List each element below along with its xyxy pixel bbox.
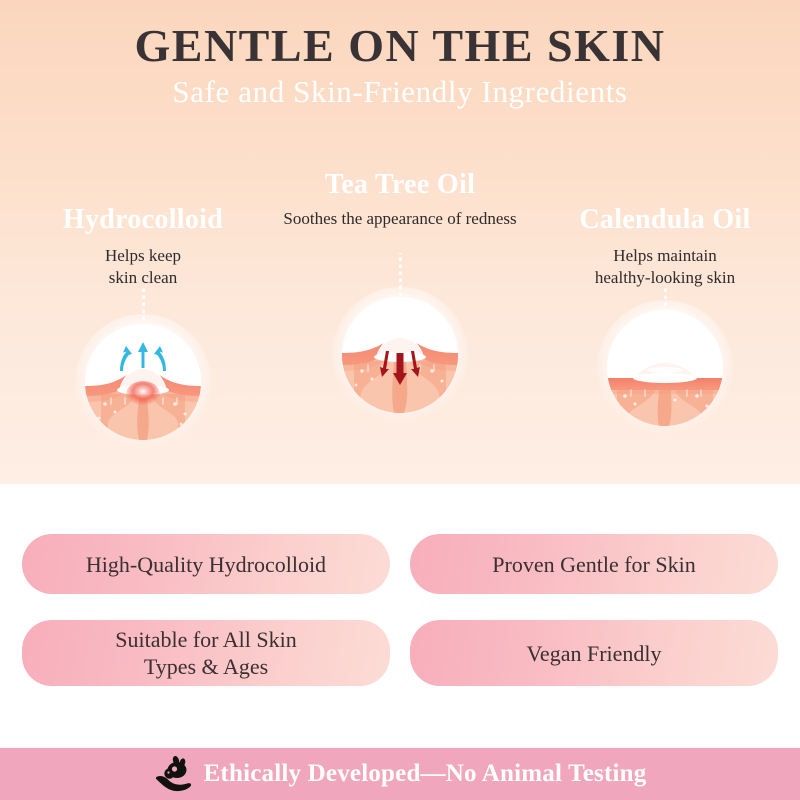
- ingredient-tea-tree-oil: Tea Tree Oil Soothes the appearance of r…: [255, 168, 545, 230]
- feature-pill-label: Types & Ages: [144, 653, 268, 680]
- feature-pill-label: High-Quality Hydrocolloid: [86, 551, 326, 578]
- feature-pill-proven-gentle-for-skin[interactable]: Proven Gentle for Skin: [410, 534, 778, 594]
- feature-pill-high-quality-hydrocolloid[interactable]: High-Quality Hydrocolloid: [22, 534, 390, 594]
- ingredient-desc-line: skin clean: [18, 267, 268, 289]
- ingredient-icon-calendula-oil: [607, 310, 723, 426]
- ingredient-icon-hydrocolloid: [85, 324, 201, 440]
- cruelty-free-rabbit-in-hand-icon: [154, 754, 196, 794]
- page-title: GENTLE ON THE SKIN: [0, 18, 800, 74]
- ingredient-calendula-oil: Calendula Oil Helps maintain healthy-loo…: [540, 203, 790, 289]
- footer-bar: Ethically Developed—No Animal Testing: [0, 748, 800, 800]
- skin-cross-section-healthy-icon: [607, 310, 723, 426]
- ingredient-desc-line: Helps keep: [18, 245, 268, 267]
- feature-pill-label: Vegan Friendly: [526, 640, 661, 667]
- ingredient-desc-line: healthy-looking skin: [540, 267, 790, 289]
- page-subtitle: Safe and Skin-Friendly Ingredients: [0, 72, 800, 112]
- ingredient-hydrocolloid: Hydrocolloid Helps keep skin clean: [18, 203, 268, 289]
- ingredient-desc-line: Helps maintain: [540, 245, 790, 267]
- ingredient-name: Calendula Oil: [540, 203, 790, 237]
- ingredient-name: Hydrocolloid: [18, 203, 268, 237]
- ingredient-name: Tea Tree Oil: [255, 168, 545, 202]
- feature-pill-label: Proven Gentle for Skin: [492, 551, 695, 578]
- feature-pill-vegan-friendly[interactable]: Vegan Friendly: [410, 620, 778, 686]
- feature-pill-label: Suitable for All Skin: [115, 626, 297, 653]
- feature-pill-suitable-for-all-skin-types[interactable]: Suitable for All Skin Types & Ages: [22, 620, 390, 686]
- ingredient-icon-tea-tree-oil: [342, 297, 458, 413]
- footer-text: Ethically Developed—No Animal Testing: [204, 759, 647, 789]
- ingredient-desc-line: Soothes the appearance of redness: [255, 208, 545, 230]
- skin-cross-section-penetrating-icon: [342, 297, 458, 413]
- poster: GENTLE ON THE SKIN Safe and Skin-Friendl…: [0, 0, 800, 800]
- skin-cross-section-absorbing-icon: [85, 324, 201, 440]
